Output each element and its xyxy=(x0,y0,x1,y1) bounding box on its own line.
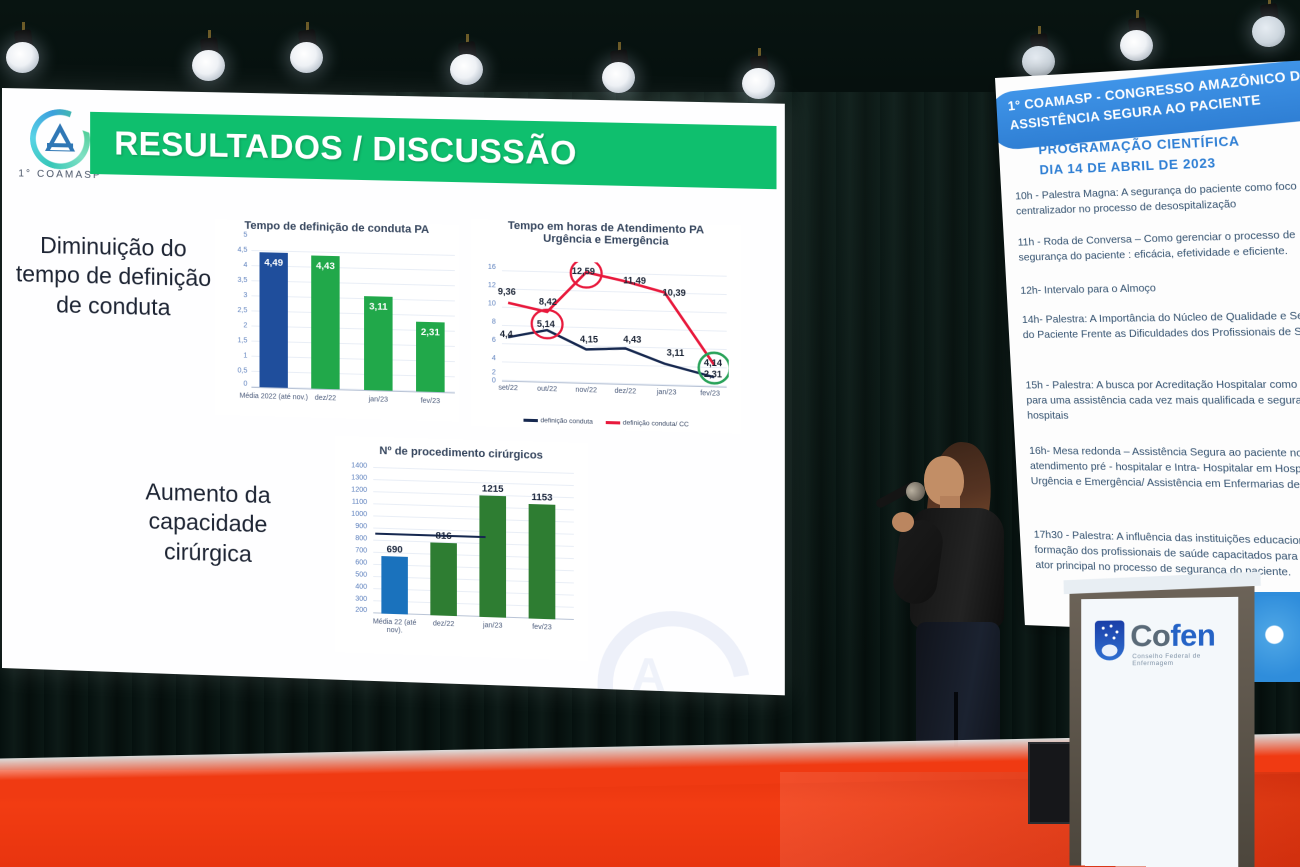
chart2-xtick-5: fev/23 xyxy=(691,390,728,399)
chart2-red-value-0: 9,36 xyxy=(498,286,516,297)
chart3-ytick-0: 1400 xyxy=(337,462,368,470)
chart2-legend-item-1: definição conduta/ CC xyxy=(605,419,689,428)
stage-light-icon xyxy=(1252,4,1286,48)
chart3-value-3: 1153 xyxy=(522,492,561,504)
chart3-title: Nº de procedimento cirúrgicos xyxy=(335,444,589,464)
program-board: 1° COAMASP - CONGRESSO AMAZÔNICO DE ASSI… xyxy=(995,58,1300,638)
chart1-ytick-7: 1,5 xyxy=(221,337,247,345)
cofen-wordmark: Cofen xyxy=(1130,617,1215,654)
chart3-bar-2 xyxy=(479,495,506,617)
chart2-ytick-6: 2 xyxy=(473,369,496,377)
program-entry-5: 16h- Mesa redonda – Assistência Segura a… xyxy=(1029,444,1300,494)
slide-note-1: Diminuição do tempo de definição de cond… xyxy=(8,230,219,324)
chart3-category-0: Média 22 (até nov). xyxy=(367,618,422,636)
chart2-ytick-2: 10 xyxy=(473,300,496,308)
shield-crest-icon xyxy=(1095,620,1124,660)
chart3-category-2: jan/23 xyxy=(474,622,511,631)
stage-light-icon xyxy=(450,42,484,86)
chart3-value-2: 1215 xyxy=(473,483,512,495)
podium-panel: Cofen Conselho Federal de Enfermagem xyxy=(1081,597,1238,867)
stage-light-icon xyxy=(290,30,324,74)
chart2-legend: definição conduta definição conduta/ CC xyxy=(471,415,741,430)
chart1-ytick-3: 3,5 xyxy=(221,276,247,284)
slide-title-bar: RESULTADOS / DISCUSSÃO xyxy=(90,112,776,189)
chart1-ytick-2: 4 xyxy=(221,261,247,269)
program-entry-3: 14h- Palestra: A Importância do Núcleo d… xyxy=(1022,308,1300,343)
chart2-xtick-1: out/22 xyxy=(529,385,566,394)
stage-light-icon xyxy=(6,30,40,74)
page-title: RESULTADOS / DISCUSSÃO xyxy=(114,124,577,172)
chart2-navy-value-3: 4,43 xyxy=(623,334,641,345)
chart1-bar-0 xyxy=(259,252,287,388)
chart2-xtick-0: set/22 xyxy=(490,384,527,393)
projection-screen: 1° COAMASP RESULTADOS / DISCUSSÃO Diminu… xyxy=(2,88,785,695)
chart2-ytick-5: 4 xyxy=(473,355,496,363)
chart3-ytick-9: 500 xyxy=(337,571,368,579)
chart3-bar-3 xyxy=(529,504,556,619)
chart1-category-0: Média 2022 (até nov.) xyxy=(237,393,310,403)
program-entry-1: 11h - Roda de Conversa – Como gerenciar … xyxy=(1017,226,1300,265)
chart2-red-value-2: 12,59 xyxy=(572,266,595,277)
chart2-navy-value-0: 4,4 xyxy=(500,329,513,339)
chart3-ytick-1: 1300 xyxy=(337,474,368,482)
chart2-ytick-4: 6 xyxy=(473,336,496,344)
chart1-value-0: 4,49 xyxy=(255,257,291,269)
stage-light-icon xyxy=(1022,34,1056,78)
chart-tempo-atendimento-pa: Tempo em horas de Atendimento PA Urgênci… xyxy=(471,219,741,434)
chart2-xtick-4: jan/23 xyxy=(648,389,685,398)
chart1-ytick-4: 3 xyxy=(221,292,247,300)
chart2-xtick-3: dez/22 xyxy=(607,388,644,397)
chart2-red-value-1: 8,42 xyxy=(539,296,557,307)
chart2-xtick-2: nov/22 xyxy=(568,386,605,395)
chart2-title: Tempo em horas de Atendimento PA Urgênci… xyxy=(471,219,741,250)
chart1-ytick-0: 5 xyxy=(221,231,247,239)
chart3-bar-1 xyxy=(430,542,457,616)
chart2-ytick-0: 16 xyxy=(473,263,496,271)
stage-light-icon xyxy=(192,38,226,82)
program-entry-4: 15h - Palestra: A busca por Acreditação … xyxy=(1025,377,1300,425)
chart1-value-2: 3,11 xyxy=(360,301,397,313)
chart3-ytick-5: 900 xyxy=(337,522,368,530)
cofen-logo: Cofen Conselho Federal de Enfermagem xyxy=(1095,619,1244,665)
chart-tempo-definicao-conduta: Tempo de definição de conduta PA 5 4,5 4… xyxy=(215,219,459,422)
stage-light-icon xyxy=(742,56,776,100)
stage-light-icon xyxy=(602,50,636,94)
program-subtitle-2: DIA 14 DE ABRIL DE 2023 xyxy=(1039,155,1216,177)
chart1-category-2: jan/23 xyxy=(358,396,399,405)
program-entry-0: 10h - Palestra Magna: A segurança do pac… xyxy=(1015,177,1300,219)
chart2-ytick-7: 0 xyxy=(473,377,496,385)
chart3-ytick-2: 1200 xyxy=(337,486,368,494)
program-entry-2: 12h- Intervalo para o Almoço xyxy=(1020,277,1300,299)
chart3-ytick-7: 700 xyxy=(337,547,368,555)
chart2-navy-value-1: 5,14 xyxy=(537,319,555,330)
chart3-ytick-6: 800 xyxy=(337,534,368,542)
chart3-ytick-3: 1100 xyxy=(337,498,368,506)
chart1-title: Tempo de definição de conduta PA xyxy=(215,219,459,237)
podium-stand: Cofen Conselho Federal de Enfermagem xyxy=(1069,584,1254,867)
chart3-bar-0 xyxy=(381,556,408,614)
stage-light-icon xyxy=(1120,18,1154,62)
chart2-red-value-5: 4,14 xyxy=(704,358,722,369)
chart3-value-1: 816 xyxy=(424,530,463,542)
chart1-value-3: 2,31 xyxy=(412,327,449,339)
chart3-value-0: 690 xyxy=(375,544,414,556)
chart1-ytick-10: 0 xyxy=(221,380,247,388)
chart3-category-3: fev/23 xyxy=(523,623,560,632)
chart3-ytick-4: 1000 xyxy=(337,510,368,518)
chart3-category-1: dez/22 xyxy=(425,620,462,629)
chart3-ytick-8: 600 xyxy=(337,559,368,567)
chart1-ytick-8: 1 xyxy=(221,352,247,360)
cofen-suffix: fen xyxy=(1170,617,1215,653)
chart-numero-procedimentos-cirurgicos: Nº de procedimento cirúrgicos 1400 1300 … xyxy=(335,436,589,662)
chart1-ytick-1: 4,5 xyxy=(221,246,247,254)
chart2-navy-value-5: 2,31 xyxy=(704,369,722,380)
chart2-legend-item-0: definição conduta xyxy=(523,417,593,426)
chart1-ytick-9: 0,5 xyxy=(221,367,247,375)
chart3-ytick-12: 200 xyxy=(337,606,368,614)
chart1-ytick-6: 2 xyxy=(221,322,247,330)
presentation-slide: 1° COAMASP RESULTADOS / DISCUSSÃO Diminu… xyxy=(2,88,785,695)
chart1-bar-1 xyxy=(311,255,339,389)
chart2-ytick-1: 12 xyxy=(473,282,496,290)
chart3-ytick-10: 400 xyxy=(337,583,368,591)
chart2-navy-value-4: 3,11 xyxy=(667,347,685,358)
chart2-navy-value-2: 4,15 xyxy=(580,334,598,345)
cofen-prefix: Co xyxy=(1130,618,1170,653)
chart2-ytick-3: 8 xyxy=(473,318,496,326)
chart1-category-1: dez/22 xyxy=(305,394,346,403)
chart1-ytick-5: 2,5 xyxy=(221,307,247,315)
slide-watermark-logo: A 1° COAMASP xyxy=(575,602,782,696)
slide-note-2: Aumento da capacidade cirúrgica xyxy=(102,476,314,571)
chart1-value-1: 4,43 xyxy=(307,260,344,272)
conference-stage-photo: 1° COAMASP RESULTADOS / DISCUSSÃO Diminu… xyxy=(0,0,1300,867)
chart2-red-value-3: 11,49 xyxy=(623,275,646,286)
chart1-category-3: fev/23 xyxy=(410,397,451,406)
chart2-red-value-4: 10,39 xyxy=(663,287,686,298)
chart3-ytick-11: 300 xyxy=(337,595,368,603)
cofen-tagline: Conselho Federal de Enfermagem xyxy=(1132,652,1244,667)
